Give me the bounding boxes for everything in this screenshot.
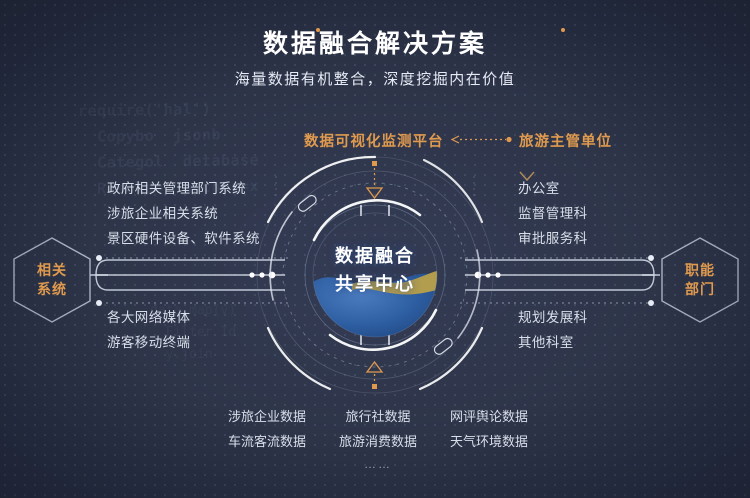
list-item: 景区硬件设备、软件系统 [107,226,260,251]
grid-cell: 网评舆论数据 [432,404,528,429]
center-hub[interactable]: 数据融合 共享中心 [250,150,500,400]
hexagon-related-systems[interactable]: 相关 系统 [14,238,90,322]
hexagon-right-line1: 职能 [685,261,715,280]
left-top-list: 政府相关管理部门系统 涉旅企业相关系统 景区硬件设备、软件系统 [107,176,260,251]
hexagon-functional-departments[interactable]: 职能 部门 [662,238,738,322]
page-title: 数据融合解决方案 [0,24,750,60]
page-subtitle: 海量数据有机整合，深度挖掘内在价值 [0,68,750,89]
grid-cell: 旅游消费数据 [330,429,426,454]
gold-dot-marker-right [561,28,565,32]
list-item: 游客移动终端 [107,330,190,355]
hexagon-right-line2: 部门 [685,280,715,299]
list-item: 办公室 [518,176,588,201]
hexagon-left-line2: 系统 [37,280,67,299]
center-hub-label: 数据融合 共享中心 [250,242,500,298]
center-line1: 数据融合 [250,242,500,270]
hexagon-left-line1: 相关 [37,261,67,280]
grid-ellipsis: …… [228,457,528,471]
grid-cell: 天气环境数据 [432,429,528,454]
list-item: 监督管理科 [518,201,588,226]
bottom-data-grid: 涉旅企业数据 旅行社数据 网评舆论数据 车流客流数据 旅游消费数据 天气环境数据… [228,404,528,471]
grid-cell: 车流客流数据 [228,429,324,454]
table-row: 涉旅企业数据 旅行社数据 网评舆论数据 [228,404,528,429]
right-bottom-list: 规划发展科 其他科室 [518,305,588,355]
left-bottom-list: 各大网络媒体 游客移动终端 [107,305,190,355]
list-item: 政府相关管理部门系统 [107,176,260,201]
label-visualization-platform[interactable]: 数据可视化监测平台 [304,130,444,151]
center-line2: 共享中心 [250,270,500,298]
hexagon-right-label: 职能 部门 [662,238,738,322]
grid-cell: 旅行社数据 [330,404,426,429]
infographic-canvas: require('hal') Copybo jsonb Categol deta… [0,0,750,498]
table-row: 车流客流数据 旅游消费数据 天气环境数据 [228,429,528,454]
grid-cell: 涉旅企业数据 [228,404,324,429]
right-top-list: 办公室 监督管理科 审批服务科 [518,176,588,251]
list-item: 其他科室 [518,330,588,355]
gold-dot-marker-left [316,28,320,32]
list-item: 规划发展科 [518,305,588,330]
label-tourism-authority[interactable]: 旅游主管单位 [519,130,612,151]
list-item: 审批服务科 [518,226,588,251]
list-item: 各大网络媒体 [107,305,190,330]
list-item: 涉旅企业相关系统 [107,201,260,226]
hexagon-left-label: 相关 系统 [14,238,90,322]
